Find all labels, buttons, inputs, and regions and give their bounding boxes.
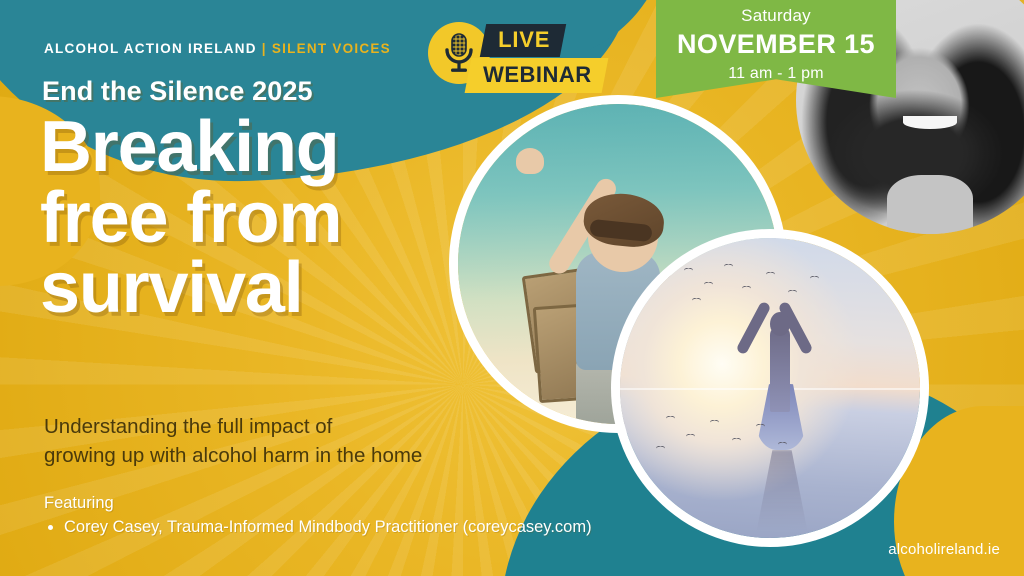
bird-icon: [732, 438, 741, 443]
featuring-label: Featuring: [44, 492, 624, 514]
programme-name: SILENT VOICES: [272, 41, 391, 56]
series-title: End the Silence 2025: [42, 76, 313, 107]
bird-icon: [710, 420, 719, 425]
bird-icon: [666, 416, 675, 421]
bird-icon: [684, 268, 693, 273]
eyebrow-separator: |: [262, 41, 267, 56]
headline-line-2: free from: [40, 183, 480, 254]
bird-icon: [686, 434, 695, 439]
child-fist: [516, 148, 544, 174]
bird-icon: [724, 264, 733, 269]
headline: Breaking free from survival: [40, 112, 480, 324]
brand-eyebrow: ALCOHOL ACTION IRELAND | SILENT VOICES: [44, 41, 391, 56]
shoulders: [887, 175, 973, 234]
webinar-promo-poster: ALCOHOL ACTION IRELAND | SILENT VOICES E…: [0, 0, 1024, 576]
live-label: LIVE: [480, 24, 567, 57]
bird-icon: [778, 442, 787, 447]
subhead-line-1: Understanding the full impact of: [44, 412, 504, 441]
subhead-line-2: growing up with alcohol harm in the home: [44, 441, 504, 470]
bird-icon: [810, 276, 819, 281]
smile-highlight: [903, 116, 957, 129]
organisation-name: ALCOHOL ACTION IRELAND: [44, 41, 257, 56]
live-webinar-badge: LIVE WEBINAR: [428, 18, 608, 98]
bird-icon: [692, 298, 701, 303]
woman-arm-left: [735, 301, 771, 356]
headline-line-1: Breaking: [40, 112, 480, 183]
bird-icon: [756, 424, 765, 429]
website-url: alcoholireland.ie: [888, 541, 1000, 558]
headline-line-3: survival: [40, 253, 480, 324]
bird-icon: [766, 272, 775, 277]
speaker-list: Corey Casey, Trauma-Informed Mindbody Pr…: [44, 516, 624, 538]
water-reflection: [752, 450, 812, 530]
event-date: NOVEMBER 15: [656, 29, 896, 60]
bird-icon: [704, 282, 713, 287]
bird-icon: [788, 290, 797, 295]
featuring-block: Featuring Corey Casey, Trauma-Informed M…: [44, 492, 624, 538]
woman-arms-raised-at-sunrise: [620, 238, 920, 538]
woman-head: [770, 312, 790, 336]
list-item: Corey Casey, Trauma-Informed Mindbody Pr…: [64, 516, 624, 538]
event-weekday: Saturday: [656, 6, 896, 26]
webinar-label: WEBINAR: [465, 58, 608, 93]
subhead: Understanding the full impact of growing…: [44, 412, 504, 470]
bird-icon: [742, 286, 751, 291]
woman-silhouette: [770, 326, 790, 412]
bird-icon: [656, 446, 665, 451]
